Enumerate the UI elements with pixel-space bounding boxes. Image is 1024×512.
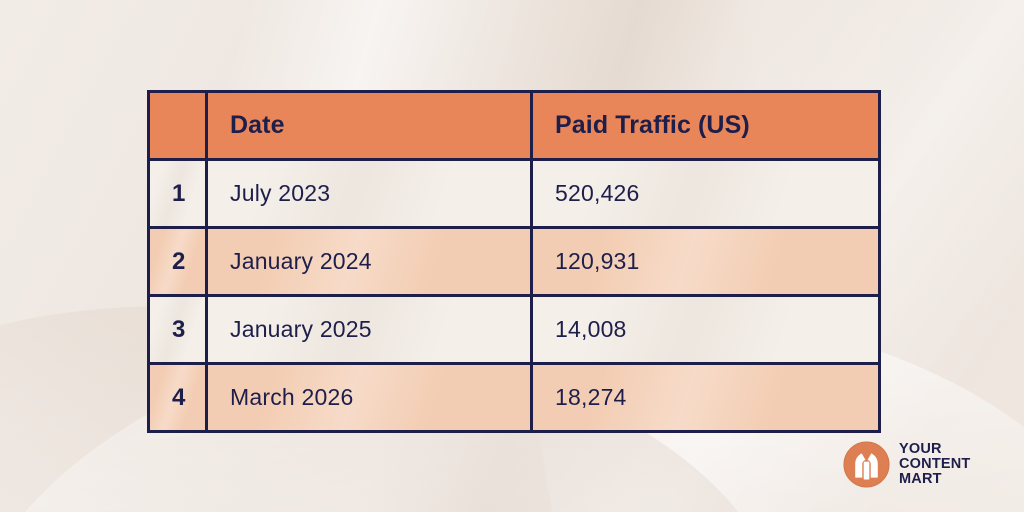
row-index-4: 4: [149, 364, 207, 432]
row-traffic-1: 520,426: [532, 160, 880, 228]
row-traffic-value: 18,274: [555, 384, 627, 410]
row-date-4: March 2026: [207, 364, 532, 432]
brand-line-1: YOUR: [899, 442, 970, 457]
table-row: 3 January 2025 14,008: [149, 296, 880, 364]
column-header-date: Date: [207, 92, 532, 160]
your-content-mart-monogram-icon: [843, 441, 890, 488]
row-index-value: 4: [172, 384, 185, 411]
row-date-value: July 2023: [230, 180, 330, 206]
row-traffic-value: 120,931: [555, 248, 640, 274]
row-index-value: 2: [172, 248, 185, 275]
row-traffic-3: 14,008: [532, 296, 880, 364]
table-header: Date Paid Traffic (US): [149, 92, 880, 160]
row-index-3: 3: [149, 296, 207, 364]
row-date-1: July 2023: [207, 160, 532, 228]
row-traffic-2: 120,931: [532, 228, 880, 296]
table-body: 1 July 2023 520,426 2 January 2024 120,9…: [149, 160, 880, 432]
row-index-value: 1: [172, 180, 185, 207]
row-date-value: March 2026: [230, 384, 353, 410]
row-index-1: 1: [149, 160, 207, 228]
row-date-3: January 2025: [207, 296, 532, 364]
row-index-value: 3: [172, 316, 185, 343]
row-index-2: 2: [149, 228, 207, 296]
row-date-value: January 2025: [230, 316, 372, 342]
table-header-row: Date Paid Traffic (US): [149, 92, 880, 160]
row-traffic-4: 18,274: [532, 364, 880, 432]
row-date-value: January 2024: [230, 248, 372, 274]
table-row: 4 March 2026 18,274: [149, 364, 880, 432]
paid-traffic-table: Date Paid Traffic (US) 1 July 2023 520,4…: [147, 90, 881, 433]
column-header-index: [149, 92, 207, 160]
row-traffic-value: 520,426: [555, 180, 640, 206]
brand-logo: YOUR CONTENT MART: [843, 441, 970, 488]
brand-logo-text: YOUR CONTENT MART: [899, 442, 970, 487]
table-row: 1 July 2023 520,426: [149, 160, 880, 228]
brand-line-2: CONTENT: [899, 457, 970, 472]
row-traffic-value: 14,008: [555, 316, 627, 342]
brand-line-3: MART: [899, 472, 970, 487]
table-row: 2 January 2024 120,931: [149, 228, 880, 296]
row-date-2: January 2024: [207, 228, 532, 296]
paid-traffic-table-container: Date Paid Traffic (US) 1 July 2023 520,4…: [147, 90, 878, 426]
column-header-paid-traffic: Paid Traffic (US): [532, 92, 880, 160]
